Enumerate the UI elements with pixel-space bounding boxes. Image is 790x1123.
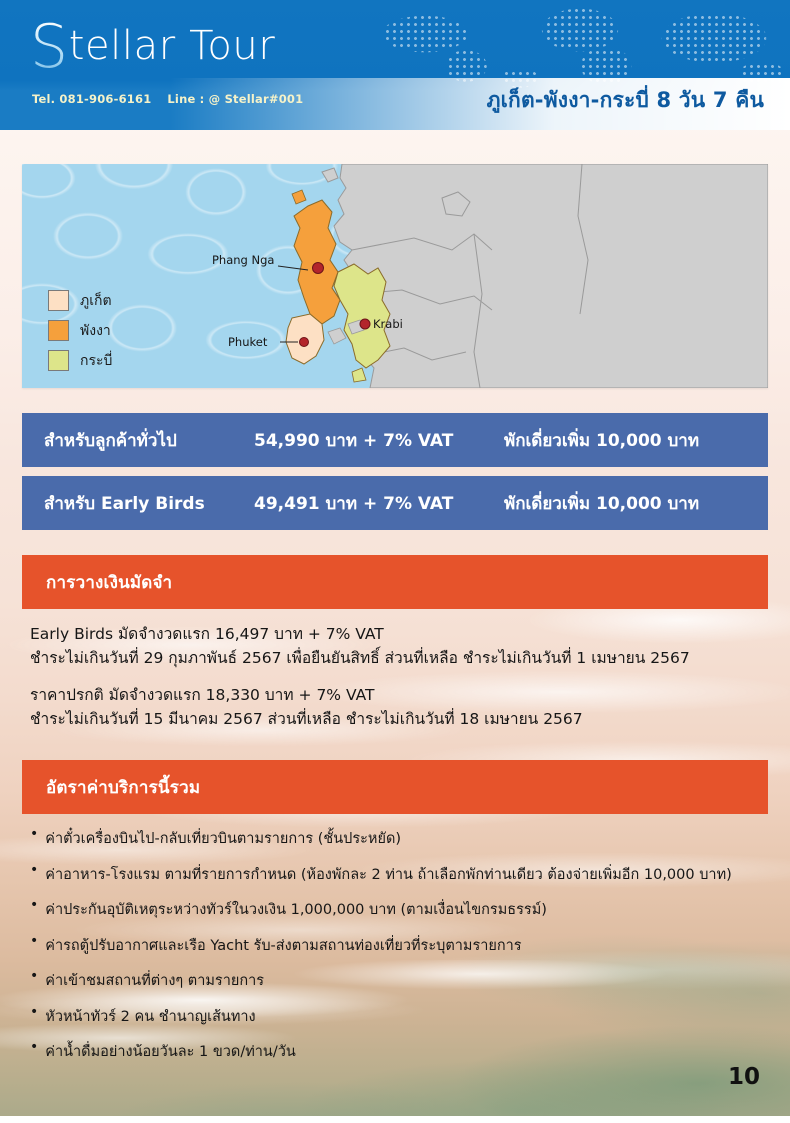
bullet-icon: • — [30, 1005, 38, 1020]
map-province-phangnga — [294, 200, 340, 324]
map-landmass-mainland — [334, 164, 768, 388]
deposit-due-line: ชำระไม่เกินวันที่ 29 กุมภาพันธ์ 2567 เพื… — [30, 647, 760, 671]
price-row-early-birds: สำหรับ Early Birds 49,491 บาท + 7% VAT พ… — [22, 476, 768, 530]
legend-swatch-phuket — [48, 290, 69, 311]
list-item-label: ค่าอาหาร-โรงแรม ตามที่รายการกำหนด (ห้องพ… — [45, 863, 732, 886]
price-row-single-supplement: พักเดี่ยวเพิ่ม 10,000 บาท — [504, 427, 768, 454]
logo-initial: S — [30, 12, 69, 82]
brand-logo: Stellar Tour — [30, 26, 275, 66]
list-item-label: ค่าเข้าชมสถานที่ต่างๆ ตามรายการ — [45, 969, 264, 992]
map-label-phuket: Phuket — [228, 335, 268, 349]
map-islet-krabi-1 — [352, 368, 366, 382]
map-city-dot-krabi — [360, 319, 370, 329]
price-row-general: สำหรับลูกค้าทั่วไป 54,990 บาท + 7% VAT พ… — [22, 413, 768, 467]
map-islet-phangnga-1 — [292, 190, 306, 204]
price-row-single-supplement: พักเดี่ยวเพิ่ม 10,000 บาท — [504, 490, 768, 517]
list-item-label: ค่าประกันอุบัติเหตุระหว่างทัวร์ในวงเงิน … — [45, 898, 547, 921]
legend-label-krabi: กระบี่ — [80, 354, 112, 368]
bullet-icon: • — [30, 827, 38, 842]
deposit-due-line: ชำระไม่เกินวันที่ 15 มีนาคม 2567 ส่วนที่… — [30, 708, 760, 732]
brochure-page: Stellar Tour Tel. 081-906-6161Line : @ S… — [0, 0, 790, 1123]
map-city-dot-phangnga — [313, 263, 324, 274]
list-item-label: ค่าตั๋วเครื่องบินไป-กลับเที่ยวบินตามรายก… — [45, 827, 401, 850]
line-id: Line : @ Stellar#001 — [167, 92, 303, 106]
list-item: • ค่าอาหาร-โรงแรม ตามที่รายการกำหนด (ห้อ… — [30, 863, 776, 886]
list-item-label: หัวหน้าทัวร์ 2 คน ชำนาญเส้นทาง — [45, 1005, 255, 1028]
deposit-amount-line: Early Birds มัดจำงวดแรก 16,497 บาท + 7% … — [30, 623, 760, 647]
list-item: • ค่าเข้าชมสถานที่ต่างๆ ตามรายการ — [30, 969, 776, 992]
legend-swatch-krabi — [48, 350, 69, 371]
deposit-amount-line: ราคาปรกติ มัดจำงวดแรก 18,330 บาท + 7% VA… — [30, 684, 760, 708]
map-label-phangnga: Phang Nga — [212, 253, 274, 267]
deposit-details: Early Birds มัดจำงวดแรก 16,497 บาท + 7% … — [30, 623, 760, 745]
page-header: Stellar Tour Tel. 081-906-6161Line : @ S… — [0, 0, 790, 130]
map-province-krabi — [334, 264, 390, 368]
bullet-icon: • — [30, 969, 38, 984]
map-island-small-1 — [328, 328, 346, 344]
map-legend: ภูเก็ต พังงา กระบี่ — [48, 290, 112, 380]
legend-item-phangnga: พังงา — [48, 320, 112, 341]
legend-item-phuket: ภูเก็ต — [48, 290, 112, 311]
legend-swatch-phangnga — [48, 320, 69, 341]
price-row-label: สำหรับ Early Birds — [22, 490, 254, 517]
destination-map: Phang Nga Phuket Krabi ภูเก็ต พังงา กระบ… — [22, 164, 768, 388]
bullet-icon: • — [30, 1040, 38, 1055]
bullet-icon: • — [30, 934, 38, 949]
map-city-dot-phuket — [300, 338, 309, 347]
list-item: • หัวหน้าทัวร์ 2 คน ชำนาญเส้นทาง — [30, 1005, 776, 1028]
bottom-rule — [0, 1116, 790, 1123]
page-number: 10 — [728, 1064, 760, 1090]
map-vector: Phang Nga Phuket Krabi — [22, 164, 768, 388]
list-item: • ค่าน้ำดื่มอย่างน้อยวันละ 1 ขวด/ท่าน/วั… — [30, 1040, 776, 1063]
section-header-deposit: การวางเงินมัดจำ — [22, 555, 768, 609]
map-island-gray-2 — [322, 168, 338, 182]
price-row-amount: 49,491 บาท + 7% VAT — [254, 490, 504, 517]
list-item-label: ค่าน้ำดื่มอย่างน้อยวันละ 1 ขวด/ท่าน/วัน — [45, 1040, 296, 1063]
included-list: • ค่าตั๋วเครื่องบินไป-กลับเที่ยวบินตามรา… — [30, 827, 776, 1076]
bullet-icon: • — [30, 898, 38, 913]
deposit-group-regular: ราคาปรกติ มัดจำงวดแรก 18,330 บาท + 7% VA… — [30, 684, 760, 731]
price-row-amount: 54,990 บาท + 7% VAT — [254, 427, 504, 454]
deposit-group-early-birds: Early Birds มัดจำงวดแรก 16,497 บาท + 7% … — [30, 623, 760, 670]
list-item: • ค่ารถตู้ปรับอากาศและเรือ Yacht รับ-ส่ง… — [30, 934, 776, 957]
logo-wordmark: tellar Tour — [69, 23, 276, 69]
legend-label-phangnga: พังงา — [80, 324, 111, 338]
contact-info: Tel. 081-906-6161Line : @ Stellar#001 — [32, 92, 303, 106]
map-label-krabi: Krabi — [373, 317, 403, 331]
legend-label-phuket: ภูเก็ต — [80, 294, 112, 308]
price-row-label: สำหรับลูกค้าทั่วไป — [22, 427, 254, 454]
trip-title: ภูเก็ต-พังงา-กระบี่ 8 วัน 7 คืน — [487, 84, 764, 117]
legend-item-krabi: กระบี่ — [48, 350, 112, 371]
list-item: • ค่าประกันอุบัติเหตุระหว่างทัวร์ในวงเงิ… — [30, 898, 776, 921]
section-header-included: อัตราค่าบริการนี้รวม — [22, 760, 768, 814]
list-item-label: ค่ารถตู้ปรับอากาศและเรือ Yacht รับ-ส่งตา… — [45, 934, 521, 957]
phone-number: Tel. 081-906-6161 — [32, 92, 151, 106]
bullet-icon: • — [30, 863, 38, 878]
list-item: • ค่าตั๋วเครื่องบินไป-กลับเที่ยวบินตามรา… — [30, 827, 776, 850]
